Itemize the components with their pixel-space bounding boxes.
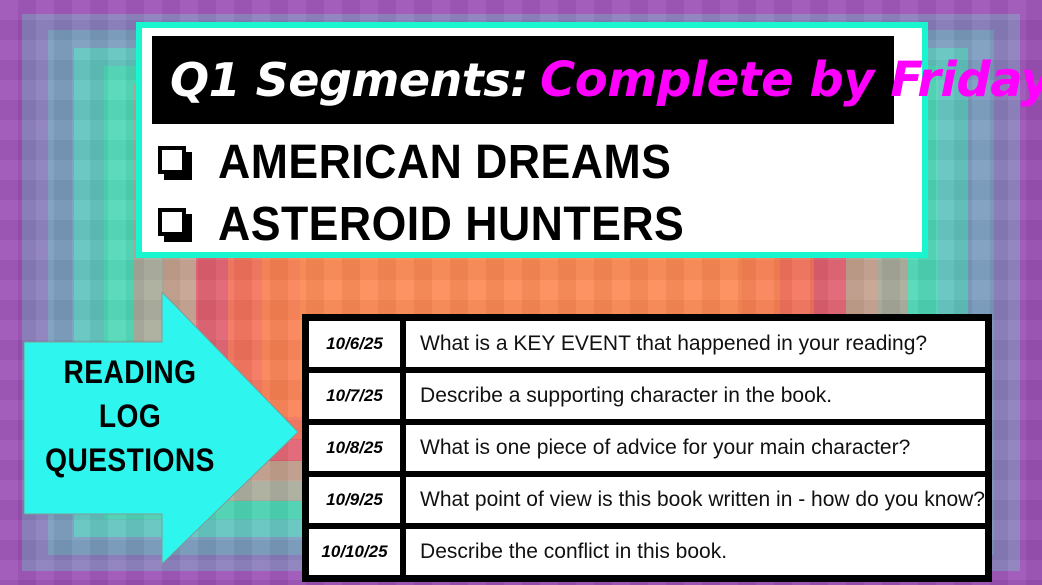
- reading-log-arrow: READING LOG QUESTIONS: [24, 292, 298, 564]
- table-row: 10/6/25 What is a KEY EVENT that happene…: [306, 318, 988, 370]
- reading-log-questions-table: 10/6/25 What is a KEY EVENT that happene…: [302, 314, 992, 582]
- checklist-item[interactable]: ASTEROID HUNTERS: [150, 194, 914, 256]
- checklist-item[interactable]: AMERICAN DREAMS: [150, 132, 914, 194]
- row-question: What point of view is this book written …: [403, 474, 988, 526]
- arrow-label-line-2: LOG: [37, 394, 224, 438]
- title-banner: Q1 Segments: Complete by Friday: [152, 36, 894, 124]
- table-row: 10/10/25 Describe the conflict in this b…: [306, 526, 988, 578]
- row-date: 10/10/25: [306, 526, 403, 578]
- arrow-label-line-1: READING: [37, 350, 224, 394]
- row-question: What is one piece of advice for your mai…: [403, 422, 988, 474]
- title-segment-primary: Q1 Segments:: [152, 57, 528, 103]
- checklist: AMERICAN DREAMS ASTEROID HUNTERS: [150, 132, 914, 256]
- row-date: 10/6/25: [306, 318, 403, 370]
- slide-canvas: Q1 Segments: Complete by Friday AMERICAN…: [0, 0, 1042, 585]
- checkbox-unchecked-icon[interactable]: [158, 208, 192, 242]
- title-segment-highlight: Complete by Friday: [528, 56, 1042, 104]
- row-date: 10/7/25: [306, 370, 403, 422]
- row-question: What is a KEY EVENT that happened in you…: [403, 318, 988, 370]
- checkbox-unchecked-icon[interactable]: [158, 146, 192, 180]
- headline-card: Q1 Segments: Complete by Friday AMERICAN…: [136, 22, 928, 258]
- table-row: 10/7/25 Describe a supporting character …: [306, 370, 988, 422]
- arrow-label-line-3: QUESTIONS: [37, 438, 224, 482]
- table-row: 10/8/25 What is one piece of advice for …: [306, 422, 988, 474]
- row-question: Describe the conflict in this book.: [403, 526, 988, 578]
- row-date: 10/8/25: [306, 422, 403, 474]
- row-question: Describe a supporting character in the b…: [403, 370, 988, 422]
- row-date: 10/9/25: [306, 474, 403, 526]
- checklist-item-label: ASTEROID HUNTERS: [218, 201, 684, 249]
- table-row: 10/9/25 What point of view is this book …: [306, 474, 988, 526]
- arrow-label: READING LOG QUESTIONS: [37, 350, 224, 482]
- checklist-item-label: AMERICAN DREAMS: [218, 139, 671, 187]
